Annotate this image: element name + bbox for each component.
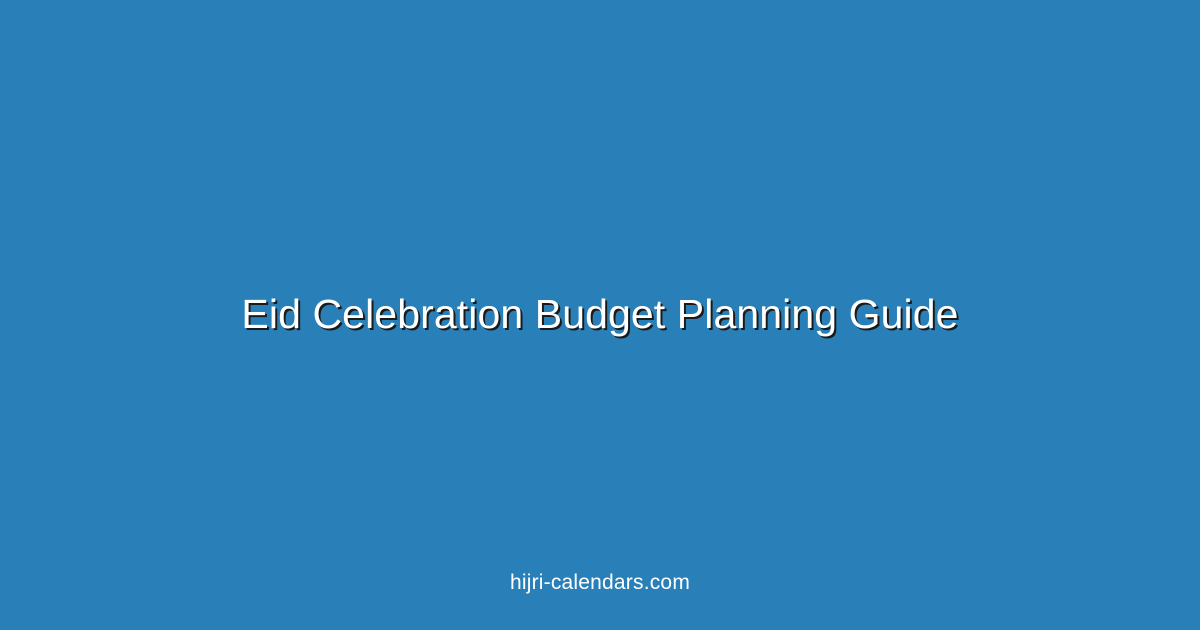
og-card: Eid Celebration Budget Planning Guide hi…: [0, 0, 1200, 630]
page-title: Eid Celebration Budget Planning Guide: [241, 291, 958, 338]
site-attribution: hijri-calendars.com: [510, 572, 690, 593]
footer-container: hijri-calendars.com: [0, 534, 1200, 630]
